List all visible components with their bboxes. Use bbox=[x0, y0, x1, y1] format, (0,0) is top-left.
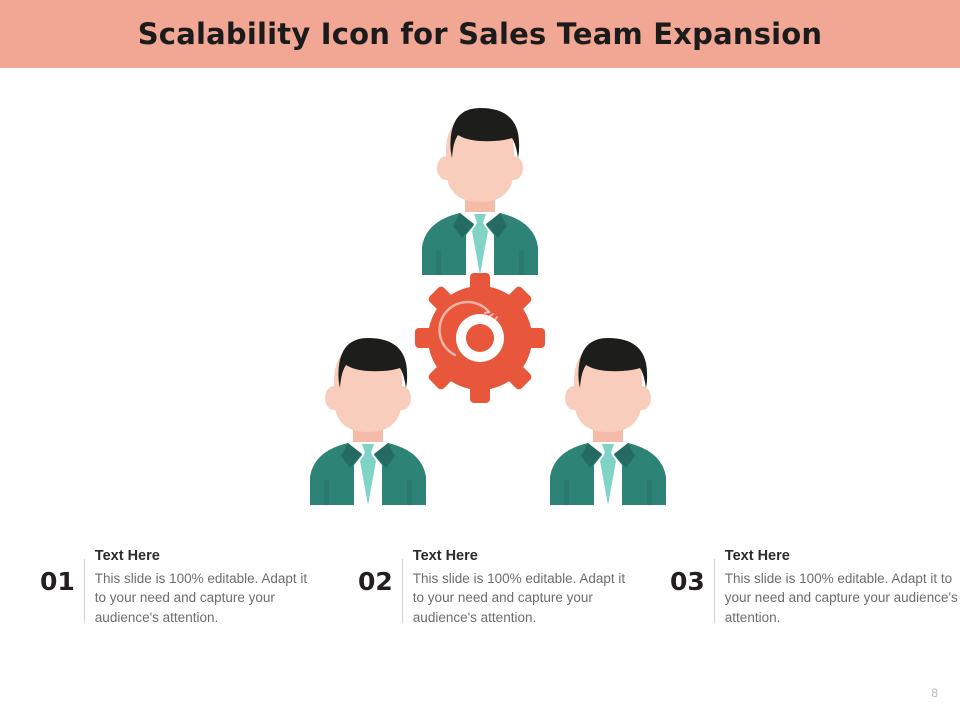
caption-number: 03 bbox=[670, 545, 714, 594]
caption-text-block: Text Here This slide is 100% editable. A… bbox=[95, 545, 320, 627]
businessman-glyph bbox=[400, 100, 560, 275]
caption-text-block: Text Here This slide is 100% editable. A… bbox=[725, 545, 960, 627]
caption-body: This slide is 100% editable. Adapt it to… bbox=[725, 569, 960, 628]
caption-item-02: 02 Text Here This slide is 100% editable… bbox=[320, 545, 640, 645]
gear-glyph bbox=[415, 273, 545, 403]
caption-heading: Text Here bbox=[725, 547, 960, 567]
illustration-area bbox=[0, 68, 960, 523]
caption-body: This slide is 100% editable. Adapt it to… bbox=[95, 569, 320, 628]
caption-item-01: 01 Text Here This slide is 100% editable… bbox=[0, 545, 320, 645]
caption-body: This slide is 100% editable. Adapt it to… bbox=[413, 569, 640, 628]
caption-row: 01 Text Here This slide is 100% editable… bbox=[0, 545, 960, 645]
caption-item-03: 03 Text Here This slide is 100% editable… bbox=[640, 545, 960, 645]
caption-number: 01 bbox=[40, 545, 84, 594]
businessman-icon-top bbox=[400, 100, 560, 275]
caption-divider bbox=[402, 559, 403, 623]
caption-number: 02 bbox=[358, 545, 402, 594]
caption-divider bbox=[84, 559, 85, 623]
businessman-icon-bottom-right bbox=[528, 330, 688, 505]
gear-icon bbox=[415, 273, 545, 403]
page-title: Scalability Icon for Sales Team Expansio… bbox=[138, 17, 823, 51]
caption-text-block: Text Here This slide is 100% editable. A… bbox=[413, 545, 640, 627]
page-number: 8 bbox=[931, 686, 938, 700]
businessman-glyph bbox=[528, 330, 688, 505]
caption-divider bbox=[714, 559, 715, 623]
slide-header-band: Scalability Icon for Sales Team Expansio… bbox=[0, 0, 960, 68]
caption-heading: Text Here bbox=[95, 547, 320, 567]
caption-heading: Text Here bbox=[413, 547, 640, 567]
